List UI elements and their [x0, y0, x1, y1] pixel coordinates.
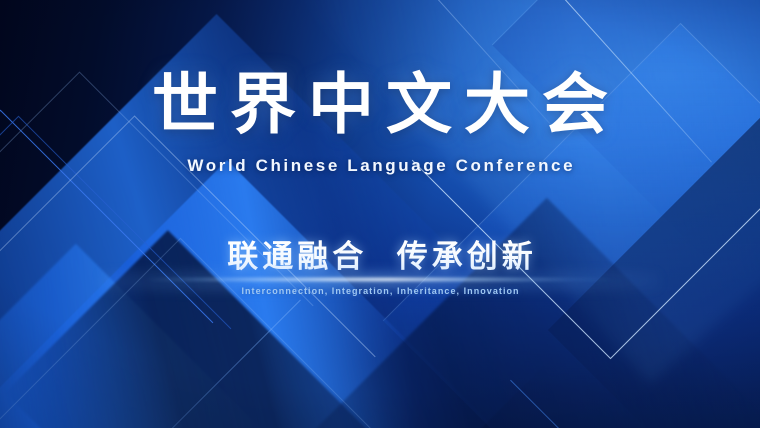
decorative-light-streak [145, 278, 615, 281]
page-title: 世界中文大会 [140, 72, 620, 138]
slogan-english: Interconnection, Integration, Inheritanc… [240, 286, 519, 296]
page-subtitle-english: World Chinese Language Conference [185, 156, 575, 176]
slogan-block: 联通融合 传承创新 联通融合 传承创新 Interconnection, Int… [223, 240, 537, 296]
slogan-chinese: 联通融合 传承创新 [223, 240, 537, 276]
poster-content: 世界中文大会 World Chinese Language Conference… [0, 0, 760, 428]
conference-poster: 世界中文大会 World Chinese Language Conference… [0, 0, 760, 428]
